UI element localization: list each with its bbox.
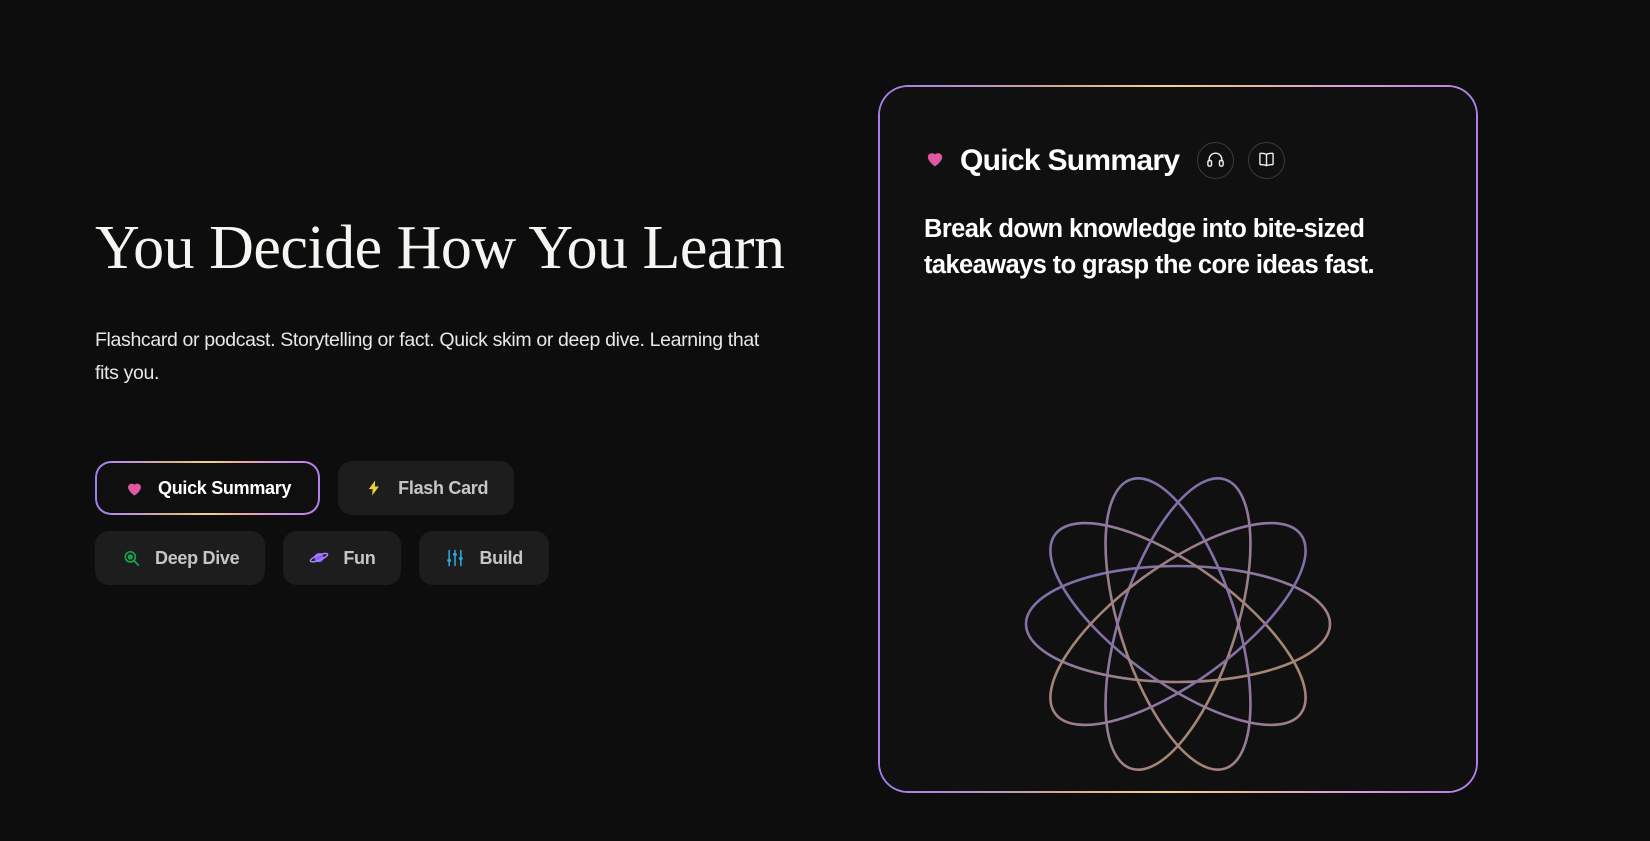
mode-preview-card-title: Quick Summary xyxy=(960,144,1179,178)
open-book-icon xyxy=(1257,150,1276,172)
mode-button-build[interactable]: Build xyxy=(419,531,549,585)
mode-button-deep-dive[interactable]: Deep Dive xyxy=(95,531,265,585)
mode-button-quick-summary-inner: Quick Summary xyxy=(97,463,318,513)
mode-preview-card-header: Quick Summary Listen Read xyxy=(880,87,1476,179)
planet-icon xyxy=(309,548,329,568)
mode-button-quick-summary[interactable]: Quick Summary xyxy=(95,461,320,515)
magnifier-icon xyxy=(121,548,141,568)
mode-preview-card-inner: Quick Summary Listen Read xyxy=(880,87,1476,791)
mode-button-build-label: Build xyxy=(479,548,523,569)
page-title: You Decide How You Learn xyxy=(95,215,815,282)
mode-button-deep-dive-label: Deep Dive xyxy=(155,548,239,569)
read-button[interactable]: Read xyxy=(1248,142,1285,179)
mode-button-quick-summary-label: Quick Summary xyxy=(158,478,291,499)
mode-preview-card-body: Break down knowledge into bite-sized tak… xyxy=(880,179,1476,283)
learning-mode-button-group: Quick Summary Flash Card Deep Dive xyxy=(95,461,605,585)
sliders-icon xyxy=(445,548,465,568)
headphones-icon xyxy=(1206,150,1225,172)
atom-orbits-graphic xyxy=(1008,459,1348,789)
mode-button-fun[interactable]: Fun xyxy=(283,531,401,585)
lightning-bolt-icon xyxy=(364,478,384,498)
heart-icon xyxy=(924,148,946,173)
heart-icon xyxy=(124,478,144,498)
mode-button-fun-label: Fun xyxy=(343,548,375,569)
mode-preview-card: Quick Summary Listen Read xyxy=(878,85,1478,793)
mode-button-flash-card[interactable]: Flash Card xyxy=(338,461,514,515)
mode-button-flash-card-label: Flash Card xyxy=(398,478,488,499)
hero-subtitle: Flashcard or podcast. Storytelling or fa… xyxy=(95,324,785,390)
hero-section: You Decide How You Learn Flashcard or po… xyxy=(95,215,815,585)
listen-audio-button[interactable]: Listen xyxy=(1197,142,1234,179)
